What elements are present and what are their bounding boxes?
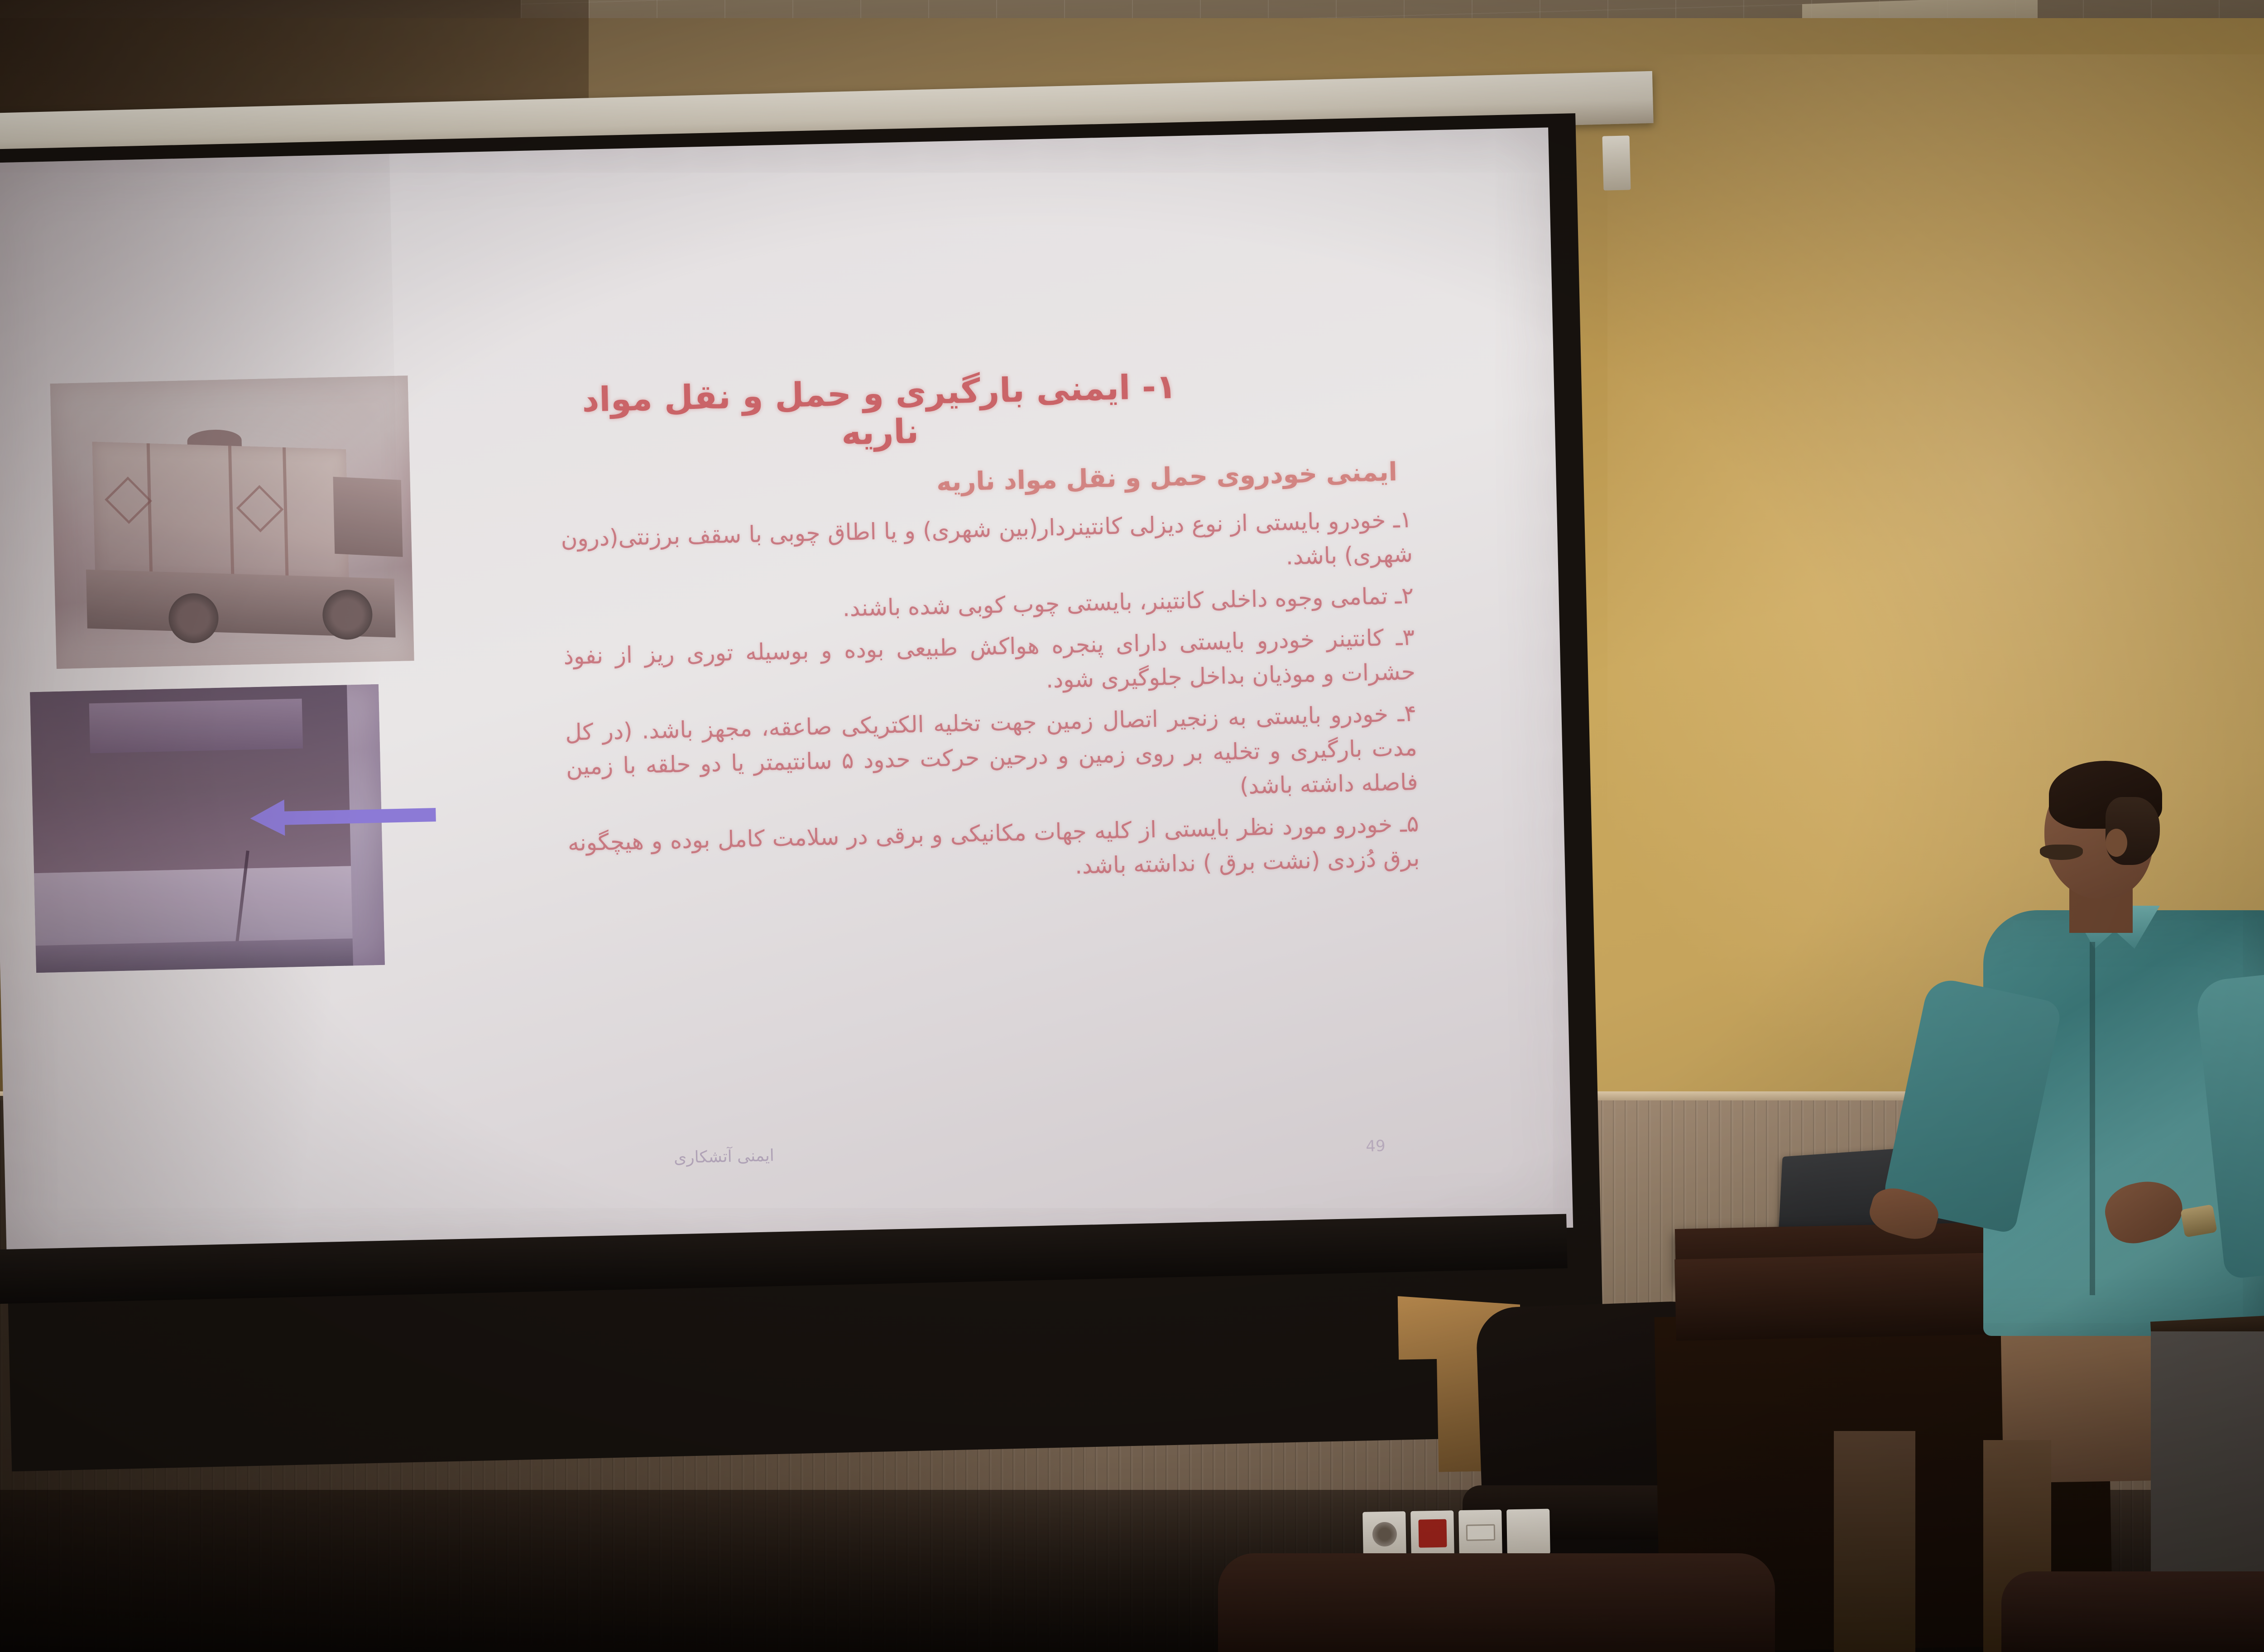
arrow-shaft <box>282 808 436 825</box>
blank-plate <box>1506 1509 1550 1555</box>
presenter-shirt-placket <box>2090 942 2095 1295</box>
slide-subtitle: ایمنی خودروی حمل و نقل مواد ناریه <box>600 457 1398 505</box>
slide-list-item-5: ۵ـ خودرو مورد نظر بایستی از کلیه جهات مک… <box>567 807 1420 895</box>
wrist-watch <box>2180 1204 2217 1238</box>
wall-socket-panel <box>1362 1508 1563 1560</box>
slide-arrow-annotation <box>250 796 441 837</box>
truck-container-body <box>92 442 349 585</box>
vehicle-underside <box>30 685 351 873</box>
emergency-red-socket[interactable] <box>1410 1510 1454 1556</box>
foreground-chair[interactable] <box>2001 1571 2264 1652</box>
truck-cab <box>333 477 403 557</box>
podium-leg <box>1834 1431 1915 1652</box>
truck-wheel <box>168 593 219 644</box>
power-socket[interactable] <box>1362 1511 1406 1557</box>
vehicle-bed <box>89 699 303 754</box>
presenter <box>1956 761 2264 1652</box>
slide-footer-label: ایمنی آتشکاری <box>674 1146 775 1167</box>
slide-list-item-3: ۳ـ کانتینر خودرو بایستی دارای پنجره هواک… <box>563 620 1416 708</box>
arrow-head-icon <box>250 800 285 837</box>
slide-photo-truck <box>50 375 414 669</box>
slide-list-item-1: ۱ـ خودرو بایستی از نوع دیزلی کانتینردار(… <box>561 502 1413 591</box>
slide-list-item-4: ۴ـ خودرو بایستی به زنجیر اتصال زمین جهت … <box>565 696 1419 819</box>
presenter-ear <box>2106 829 2127 857</box>
foreground-chair[interactable] <box>1218 1553 1775 1652</box>
slide-body-list: ۱ـ خودرو بایستی از نوع دیزلی کانتینردار(… <box>561 502 1420 902</box>
photo-scene: ۱- ایمنی بارگیری و حمل و نقل مواد ناریه … <box>0 0 2264 1652</box>
data-socket[interactable] <box>1458 1509 1502 1556</box>
slide-page-number: 49 <box>1366 1137 1386 1156</box>
slide-title: ۱- ایمنی بارگیری و حمل و نقل مواد ناریه <box>557 367 1202 459</box>
screen-case-endcap <box>1602 135 1631 190</box>
projected-slide: ۱- ایمنی بارگیری و حمل و نقل مواد ناریه … <box>0 137 1564 1254</box>
presenter-moustache <box>2040 845 2083 860</box>
